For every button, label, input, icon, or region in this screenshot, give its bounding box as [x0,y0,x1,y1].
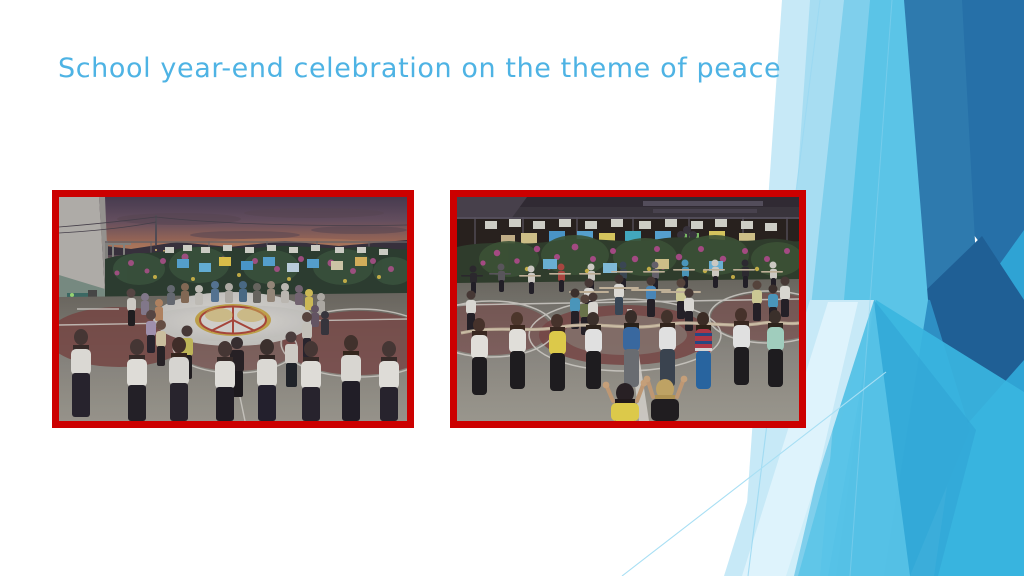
photo-right-human-chain[interactable] [450,190,806,428]
photo-right-image [457,197,799,421]
photo-left-image [59,197,407,421]
photo-left-peace-banner[interactable] [52,190,414,428]
page-title: School year-end celebration on the theme… [58,52,758,86]
presentation-slide: School year-end celebration on the theme… [0,0,1024,576]
